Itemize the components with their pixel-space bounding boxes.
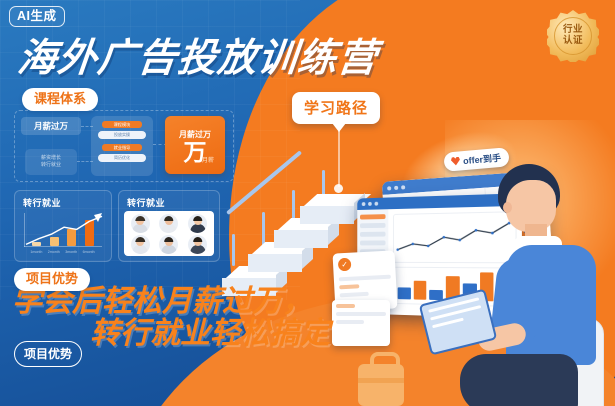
bar-chart: 1month2month3month6month bbox=[24, 213, 104, 253]
avatar bbox=[131, 235, 150, 254]
poster-root: AI生成 行业 认证 海外广告投放训练营 课程体系 月薪过万 薪资增长 转行就业… bbox=[0, 0, 615, 406]
diagram-middle-panel: 课程模块 投放实操 就业指导 简历优化 bbox=[91, 116, 153, 176]
salary-highlight-box: 月薪过万 万 月薪 bbox=[165, 116, 225, 174]
headline-line-2: 转行就业轻松搞定 bbox=[90, 318, 432, 350]
diagram-mid-header-1: 课程模块 bbox=[102, 121, 142, 128]
window-dot-icon bbox=[387, 186, 391, 190]
people-card-title: 转行就业 bbox=[127, 196, 219, 209]
page-title: 海外广告投放训练营 bbox=[15, 27, 381, 83]
headline-block: 学会后轻松月薪过万， 转行就业轻松搞定 bbox=[12, 286, 432, 350]
course-structure-diagram: 月薪过万 薪资增长 转行就业 课程模块 投放实操 就业指导 简历优化 月薪过万 … bbox=[14, 110, 234, 182]
salary-box-label: 月薪过万 bbox=[179, 129, 211, 140]
skeleton-line bbox=[339, 275, 391, 282]
tablet-line bbox=[428, 297, 479, 312]
luggage-icon bbox=[358, 352, 404, 406]
headline-line-1: 学会后轻松月薪过万， bbox=[12, 286, 432, 318]
sidebar-item bbox=[360, 232, 386, 237]
industry-certification-seal: 行业 认证 bbox=[547, 10, 599, 62]
diagram-mid-item-2: 简历优化 bbox=[98, 154, 146, 162]
ai-generated-badge: AI生成 bbox=[9, 6, 65, 27]
avatar bbox=[188, 235, 207, 254]
seal-inner: 行业 认证 bbox=[554, 17, 592, 55]
chart-trend-line bbox=[24, 213, 104, 253]
diagram-left-subnode: 薪资增长 转行就业 bbox=[25, 149, 77, 175]
window-dot-icon bbox=[394, 185, 398, 189]
diagram-subnode-line1: 薪资增长 bbox=[41, 155, 61, 163]
person-illustration bbox=[470, 150, 615, 406]
avatar bbox=[159, 214, 178, 233]
project-advantage-label: 项目优势 bbox=[14, 268, 90, 291]
window-dot-icon bbox=[401, 185, 405, 189]
stair-baluster-2 bbox=[262, 212, 265, 246]
window-dot-icon bbox=[368, 202, 372, 206]
course-system-label: 课程体系 bbox=[22, 88, 98, 111]
window-dot-icon bbox=[374, 202, 378, 206]
diagram-mid-item-1: 投放实操 bbox=[98, 131, 146, 139]
diagram-left-node: 月薪过万 bbox=[21, 117, 81, 135]
diagram-mid-header-2: 就业指导 bbox=[102, 144, 142, 151]
sidebar-item bbox=[360, 240, 386, 245]
luggage-body bbox=[358, 364, 404, 406]
chart-card-title: 转行就业 bbox=[23, 196, 111, 209]
sidebar-item bbox=[360, 214, 386, 219]
luggage-strap bbox=[358, 378, 404, 383]
sidebar-item bbox=[360, 223, 386, 228]
seal-text-line2: 认证 bbox=[563, 36, 583, 47]
window-dot-icon bbox=[362, 202, 366, 206]
learning-path-bubble: 学习路径 bbox=[292, 92, 380, 124]
avatar-grid bbox=[124, 211, 214, 256]
avatar bbox=[188, 214, 207, 233]
stair-baluster-1 bbox=[232, 234, 235, 266]
person-ear bbox=[503, 202, 512, 213]
salary-box-unit: 月薪 bbox=[202, 155, 214, 164]
employment-chart-card: 转行就业 1month2month3month6month bbox=[14, 190, 112, 262]
avatar bbox=[131, 214, 150, 233]
check-icon: ✓ bbox=[338, 258, 352, 272]
diagram-subnode-line2: 转行就业 bbox=[41, 162, 61, 170]
avatar bbox=[159, 235, 178, 254]
graduates-card: 转行就业 bbox=[118, 190, 220, 262]
heart-icon bbox=[451, 156, 461, 166]
project-advantage-outline-label: 项目优势 bbox=[14, 341, 82, 367]
person-legs bbox=[460, 354, 578, 406]
stair-step-4 bbox=[300, 194, 364, 226]
tablet-line bbox=[432, 318, 464, 329]
